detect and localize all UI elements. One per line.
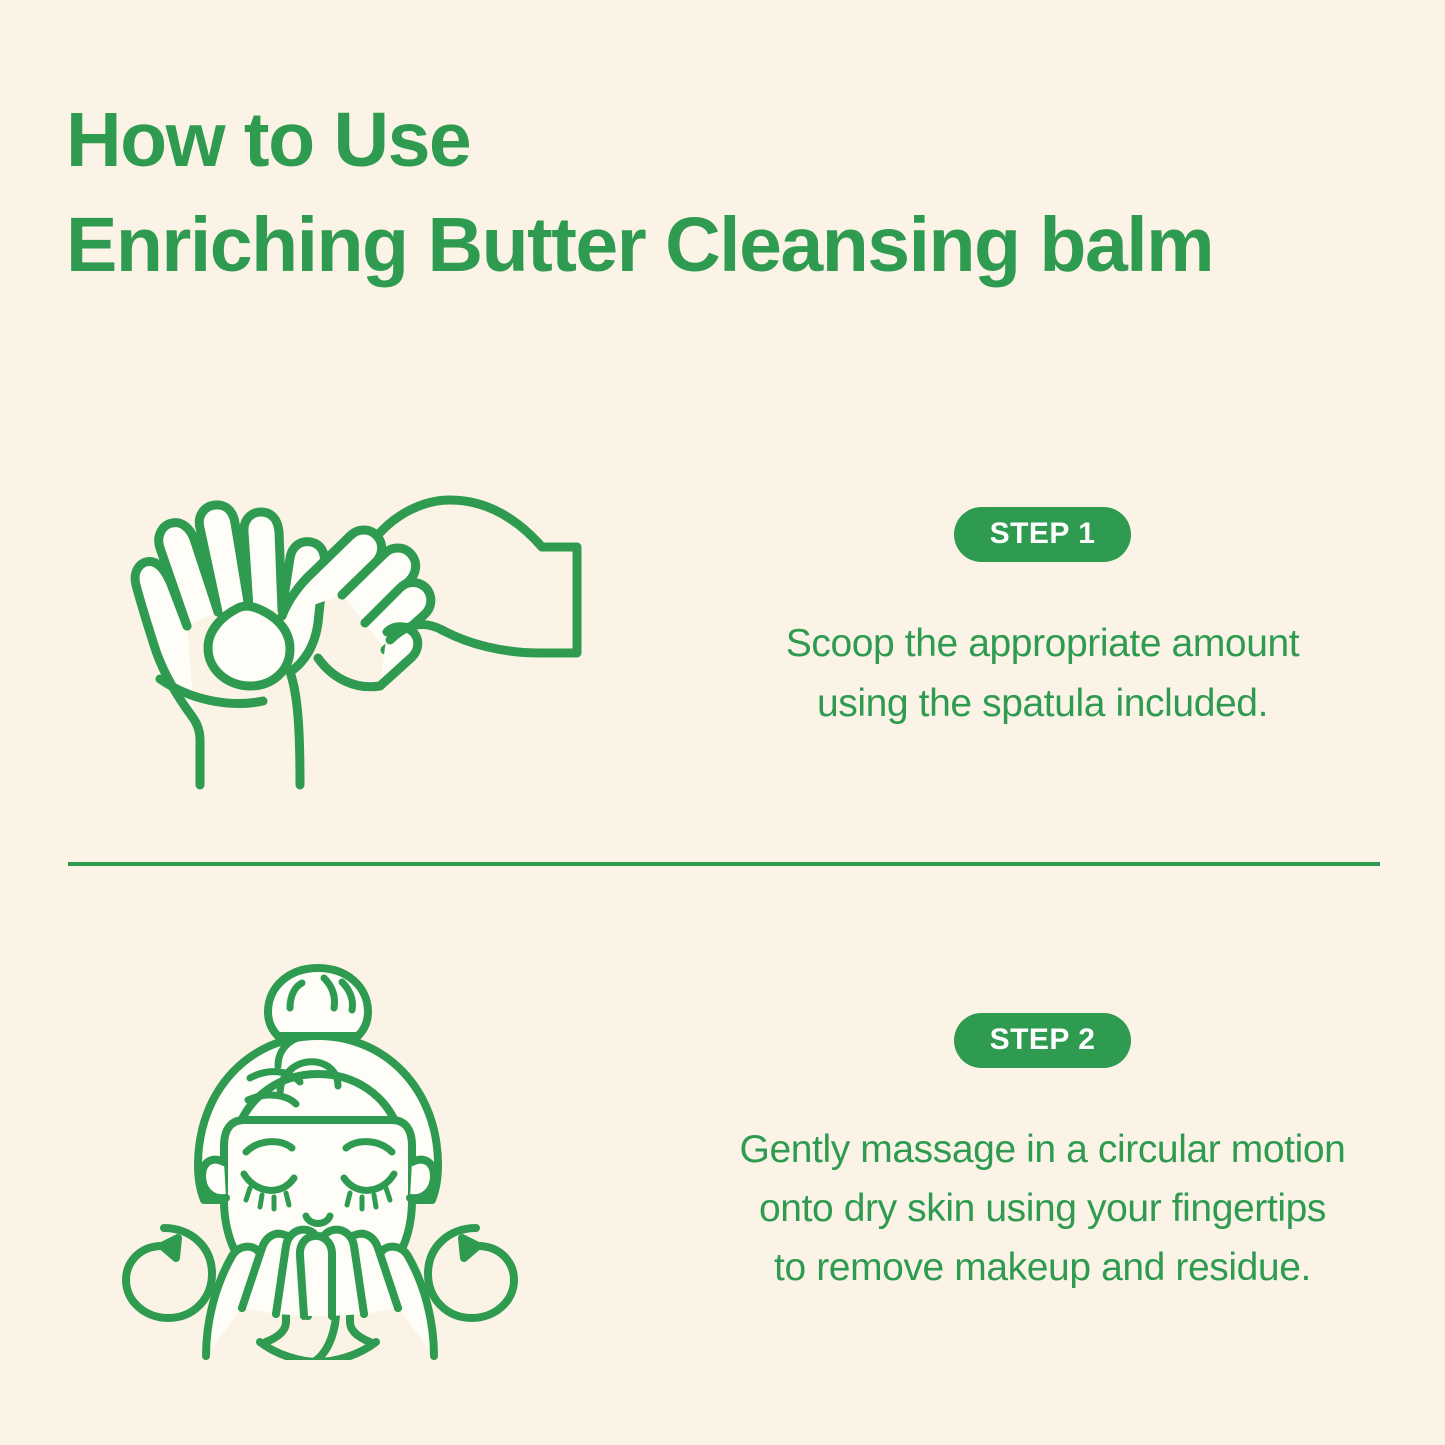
step-2-description-line-3: to remove makeup and residue. <box>740 1238 1346 1297</box>
step-2-row: STEP 2 Gently massage in a circular moti… <box>0 940 1445 1370</box>
step-2-text-cell: STEP 2 Gently massage in a circular moti… <box>640 1013 1445 1298</box>
woman-massaging-face-icon <box>110 950 530 1360</box>
step-1-illustration-cell <box>0 440 640 800</box>
step-1-text-cell: STEP 1 Scoop the appropriate amount usin… <box>640 507 1445 733</box>
page-title-line-1: How to Use <box>66 88 1396 193</box>
step-1-description: Scoop the appropriate amount using the s… <box>786 614 1300 733</box>
page-title-line-2: Enriching Butter Cleansing balm <box>66 193 1396 298</box>
step-1-description-line-2: using the spatula included. <box>786 674 1300 733</box>
how-to-use-infographic: How to Use Enriching Butter Cleansing ba… <box>0 0 1445 1445</box>
step-2-badge: STEP 2 <box>954 1013 1132 1068</box>
section-divider <box>68 862 1380 866</box>
step-2-description-line-2: onto dry skin using your fingertips <box>740 1179 1346 1238</box>
step-1-badge: STEP 1 <box>954 507 1132 562</box>
step-1-row: STEP 1 Scoop the appropriate amount usin… <box>0 420 1445 820</box>
step-2-description-line-1: Gently massage in a circular motion <box>740 1120 1346 1179</box>
page-title: How to Use Enriching Butter Cleansing ba… <box>66 88 1396 297</box>
step-2-illustration-cell <box>0 950 640 1360</box>
step-2-description: Gently massage in a circular motion onto… <box>740 1120 1346 1298</box>
step-1-description-line-1: Scoop the appropriate amount <box>786 614 1300 673</box>
hands-scooping-balm-icon <box>50 440 590 800</box>
